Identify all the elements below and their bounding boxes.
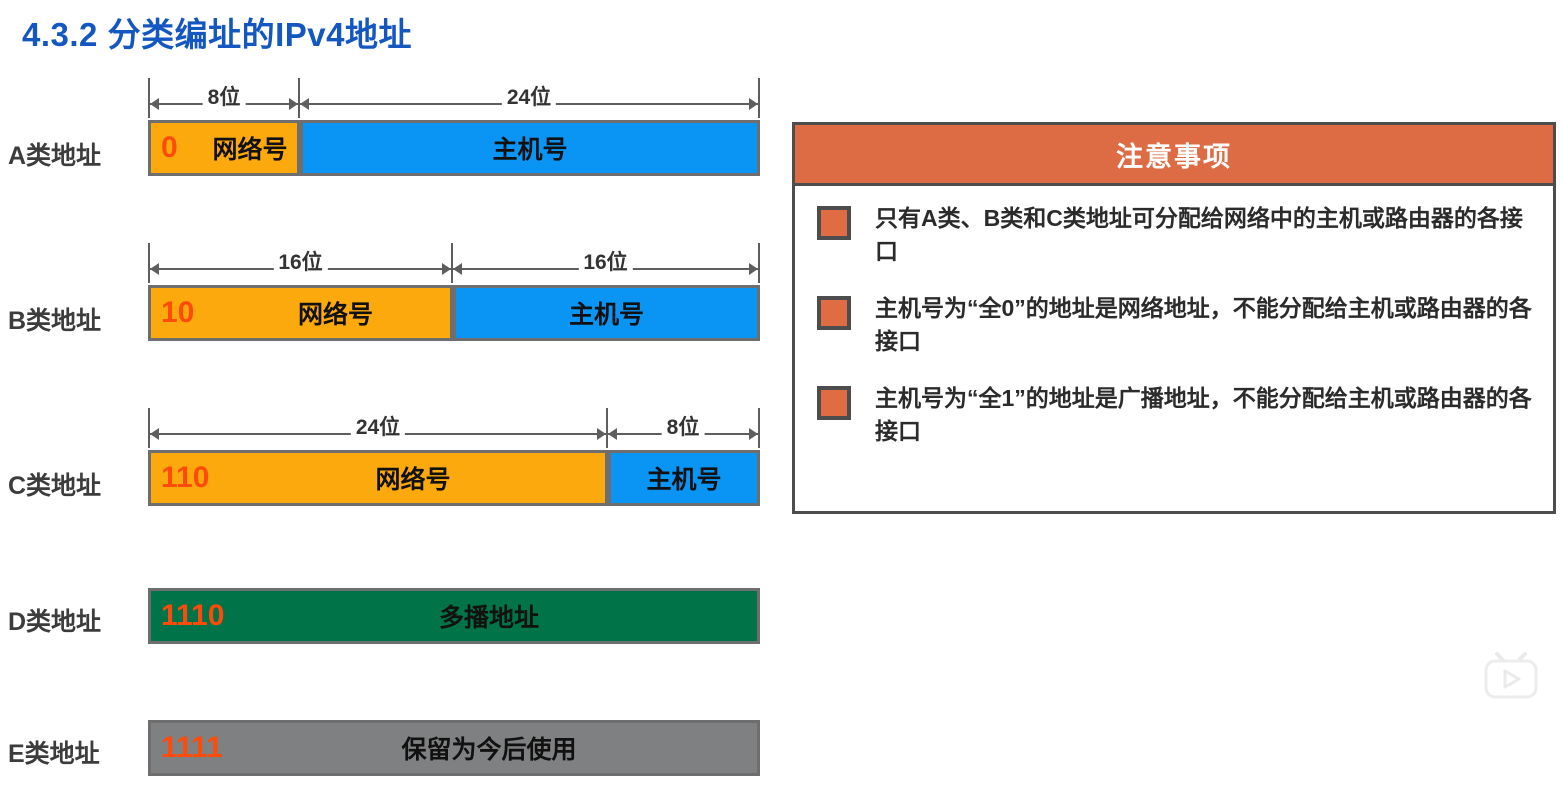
arrow-right-icon — [442, 263, 451, 275]
notice-item: 主机号为“全0”的地址是网络地址，不能分配给主机或路由器的各接口 — [817, 292, 1535, 358]
bullet-square-icon — [817, 206, 851, 240]
bar-a-network: 0 网络号 — [148, 120, 300, 176]
notice-panel-body: 只有A类、B类和C类地址可分配给网络中的主机或路由器的各接口 主机号为“全0”的… — [795, 186, 1553, 458]
arrow-right-icon — [749, 263, 758, 275]
arrow-right-icon — [597, 428, 606, 440]
field-label-e: 保留为今后使用 — [151, 730, 757, 766]
field-label-c-network: 网络号 — [151, 460, 605, 496]
prefix-e: 1111 — [161, 733, 223, 763]
bit-span-label: 8位 — [203, 86, 246, 110]
bit-span-a-host: 24位 — [300, 92, 758, 114]
ruler-a: 8位 24位 — [148, 78, 760, 120]
bar-d-multicast: 1110 多播地址 — [148, 588, 760, 644]
ruler-tick — [758, 243, 760, 283]
arrow-left-icon — [150, 263, 159, 275]
arrow-left-icon — [608, 428, 617, 440]
bit-span-a-network: 8位 — [150, 92, 298, 114]
bar-a-host: 主机号 — [300, 120, 760, 176]
bit-span-label: 24位 — [502, 86, 556, 110]
arrow-left-icon — [150, 98, 159, 110]
bit-span-b-host: 16位 — [453, 257, 758, 279]
row-label-a: A类地址 — [8, 136, 144, 172]
field-label-c-host: 主机号 — [611, 460, 757, 496]
notice-item: 只有A类、B类和C类地址可分配给网络中的主机或路由器的各接口 — [817, 202, 1535, 268]
arrow-right-icon — [289, 98, 298, 110]
row-label-b: B类地址 — [8, 301, 144, 337]
prefix-d: 1110 — [161, 601, 224, 631]
field-label-d: 多播地址 — [151, 598, 757, 634]
bar-c-network: 110 网络号 — [148, 450, 608, 506]
bullet-square-icon — [817, 386, 851, 420]
ruler-tick — [758, 78, 760, 118]
bar-b-network: 10 网络号 — [148, 285, 453, 341]
notice-panel: 注意事项 只有A类、B类和C类地址可分配给网络中的主机或路由器的各接口 主机号为… — [792, 122, 1556, 514]
notice-item: 主机号为“全1”的地址是广播地址，不能分配给主机或路由器的各接口 — [817, 382, 1535, 448]
row-label-e: E类地址 — [8, 734, 144, 770]
bit-span-label: 8位 — [662, 416, 705, 440]
field-label-a-host: 主机号 — [303, 130, 757, 166]
prefix-a: 0 — [161, 133, 178, 163]
notice-panel-header: 注意事项 — [795, 125, 1553, 186]
ruler-tick — [758, 408, 760, 448]
arrow-right-icon — [749, 98, 758, 110]
arrow-right-icon — [749, 428, 758, 440]
bar-b-host: 主机号 — [453, 285, 760, 341]
page-title: 4.3.2 分类编址的IPv4地址 — [22, 8, 412, 56]
bit-span-b-network: 16位 — [150, 257, 451, 279]
arrow-left-icon — [150, 428, 159, 440]
bit-span-label: 16位 — [273, 251, 327, 275]
arrow-left-icon — [453, 263, 462, 275]
field-label-b-host: 主机号 — [456, 295, 757, 331]
prefix-c: 110 — [161, 463, 209, 493]
ipv4-class-diagram: A类地址 8位 24位 0 网络号 主机号 — [0, 78, 780, 778]
notice-item-text: 只有A类、B类和C类地址可分配给网络中的主机或路由器的各接口 — [875, 202, 1535, 268]
bullet-square-icon — [817, 296, 851, 330]
bit-span-c-network: 24位 — [150, 422, 606, 444]
ruler-b: 16位 16位 — [148, 243, 760, 285]
notice-item-text: 主机号为“全1”的地址是广播地址，不能分配给主机或路由器的各接口 — [875, 382, 1535, 448]
ruler-c: 24位 8位 — [148, 408, 760, 450]
notice-item-text: 主机号为“全0”的地址是网络地址，不能分配给主机或路由器的各接口 — [875, 292, 1535, 358]
bar-c-host: 主机号 — [608, 450, 760, 506]
notice-panel-title: 注意事项 — [1116, 135, 1232, 174]
arrow-left-icon — [300, 98, 309, 110]
bar-e-reserved: 1111 保留为今后使用 — [148, 720, 760, 776]
bit-span-label: 16位 — [578, 251, 632, 275]
field-label-b-network: 网络号 — [151, 295, 450, 331]
tv-play-icon — [1481, 648, 1541, 700]
row-label-c: C类地址 — [8, 466, 144, 502]
prefix-b: 10 — [161, 298, 194, 328]
bit-span-c-host: 8位 — [608, 422, 758, 444]
row-label-d: D类地址 — [8, 602, 144, 638]
bit-span-label: 24位 — [351, 416, 405, 440]
